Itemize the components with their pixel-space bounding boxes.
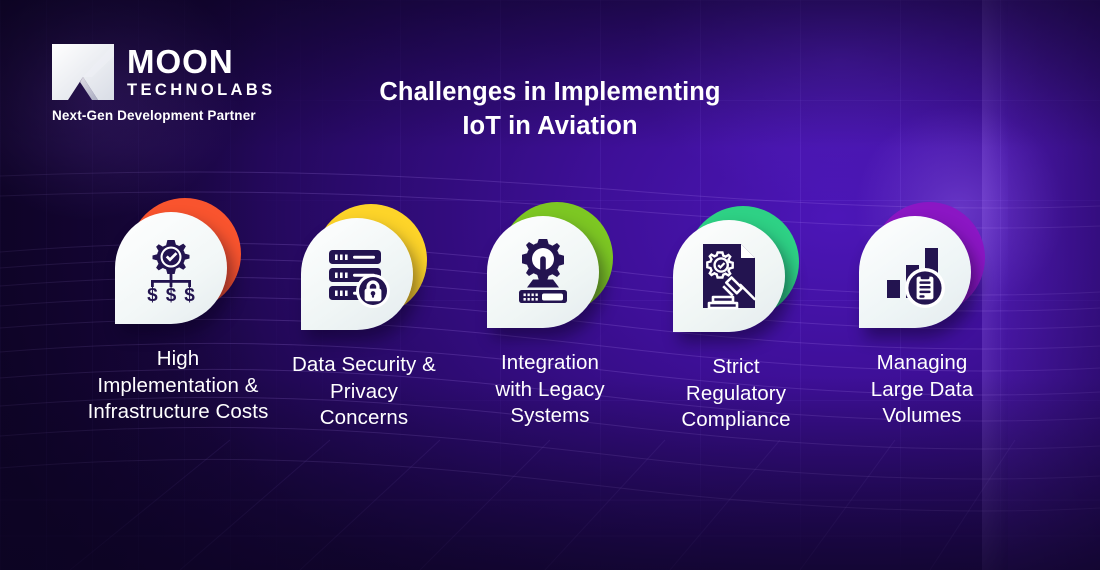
card-label-line: Volumes — [871, 403, 973, 430]
challenge-card[interactable]: Strict Regulatory Compliance — [643, 206, 829, 434]
card-label-line: Concerns — [292, 405, 436, 432]
challenge-card-list: $ $ $ High Implementation & Infrastructu… — [0, 198, 1100, 434]
svg-text:$: $ — [166, 285, 177, 304]
badge-face — [859, 216, 971, 328]
card-label: Data Security & Privacy Concerns — [292, 352, 436, 432]
challenge-card[interactable]: $ $ $ High Implementation & Infrastructu… — [85, 198, 271, 426]
challenge-card[interactable]: Managing Large Data Volumes — [829, 202, 1015, 430]
bar-chart-database-icon — [879, 236, 951, 308]
card-label-line: Implementation & — [88, 373, 269, 400]
card-badge — [859, 202, 985, 328]
svg-text:$: $ — [184, 285, 195, 304]
logo-name-secondary: TECHNOLABS — [127, 80, 276, 101]
mountain-peaks-icon — [52, 44, 114, 100]
card-label: Strict Regulatory Compliance — [681, 354, 790, 434]
card-label: High Implementation & Infrastructure Cos… — [88, 346, 269, 426]
card-badge: $ $ $ — [115, 198, 241, 324]
challenge-card[interactable]: Integration with Legacy Systems — [457, 202, 643, 430]
card-badge — [487, 202, 613, 328]
card-label: Managing Large Data Volumes — [871, 350, 973, 430]
page-title-line-1: Challenges in Implementing — [300, 76, 800, 110]
card-label-line: Regulatory — [681, 381, 790, 408]
card-label: Integration with Legacy Systems — [495, 350, 604, 430]
card-badge — [673, 206, 799, 332]
gear-check-dollar-icon: $ $ $ — [135, 232, 207, 304]
badge-face — [487, 216, 599, 328]
card-label-line: Integration — [495, 350, 604, 377]
card-label-line: Data Security & — [292, 352, 436, 379]
infographic-canvas: MOON TECHNOLABS Next-Gen Development Par… — [0, 0, 1100, 570]
challenge-card[interactable]: Data Security & Privacy Concerns — [271, 204, 457, 432]
card-badge — [301, 204, 427, 330]
logo-name-primary: MOON — [127, 45, 276, 79]
card-label-line: with Legacy — [495, 377, 604, 404]
badge-face — [673, 220, 785, 332]
svg-text:$: $ — [147, 285, 158, 304]
card-label-line: Systems — [495, 403, 604, 430]
page-title: Challenges in Implementing IoT in Aviati… — [300, 76, 800, 144]
card-label-line: High — [88, 346, 269, 373]
brand-logo[interactable]: MOON TECHNOLABS Next-Gen Development Par… — [52, 44, 276, 123]
card-label-line: Compliance — [681, 407, 790, 434]
document-gavel-compliance-icon — [693, 240, 765, 312]
gear-arrow-server-icon — [507, 236, 579, 308]
database-lock-icon — [321, 238, 393, 310]
card-label-line: Infrastructure Costs — [88, 399, 269, 426]
logo-tagline: Next-Gen Development Partner — [52, 108, 276, 123]
card-label-line: Large Data — [871, 377, 973, 404]
card-label-line: Managing — [871, 350, 973, 377]
card-label-line: Strict — [681, 354, 790, 381]
badge-face: $ $ $ — [115, 212, 227, 324]
card-label-line: Privacy — [292, 379, 436, 406]
page-title-line-2: IoT in Aviation — [300, 110, 800, 144]
badge-face — [301, 218, 413, 330]
